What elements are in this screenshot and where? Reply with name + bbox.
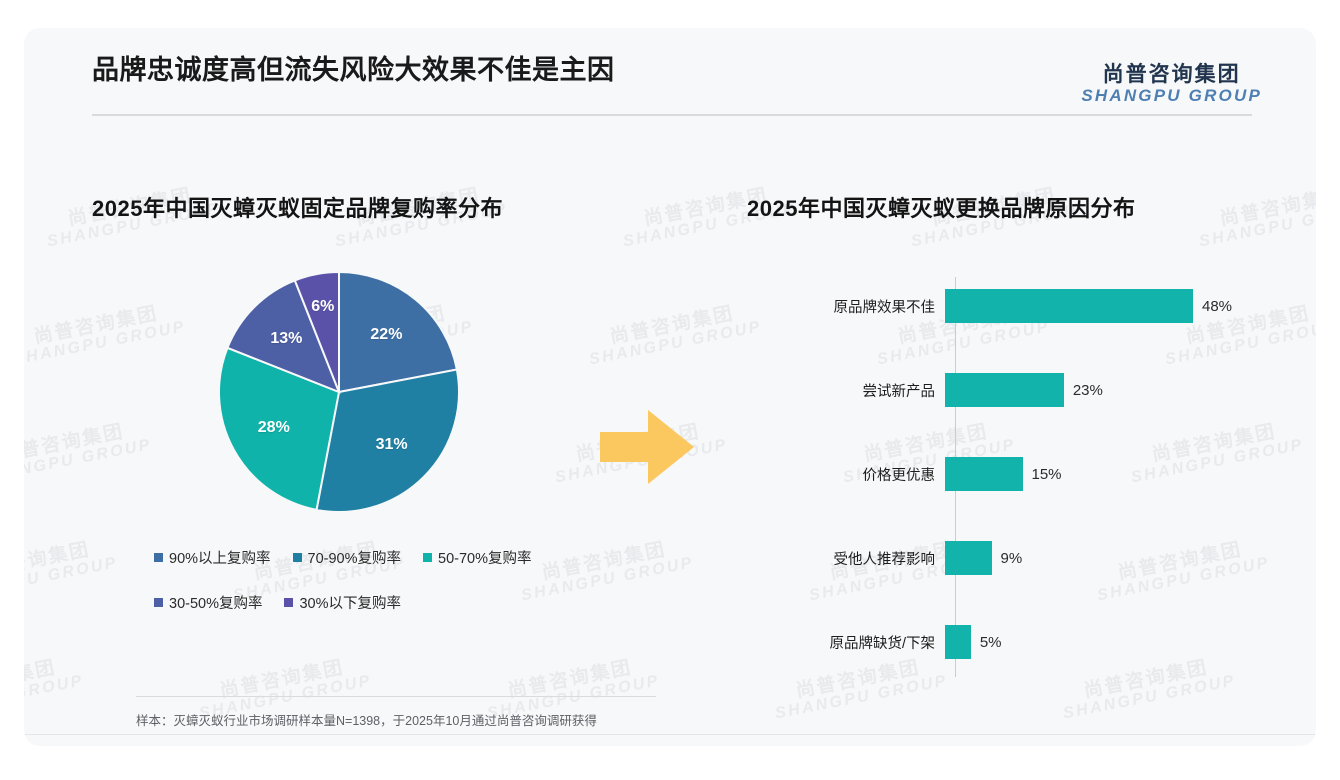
bar-category-label: 原品牌缺货/下架 [747, 632, 945, 653]
legend-swatch-icon [154, 553, 163, 562]
watermark: 尚普咨询集团SHANGPU GROUP [24, 654, 86, 724]
slide-card: 尚普咨询集团SHANGPU GROUP尚普咨询集团SHANGPU GROUP尚普… [24, 28, 1316, 746]
bar-row: 原品牌缺货/下架5% [747, 625, 1287, 659]
slide-header: 品牌忠诚度高但流失风险大效果不佳是主因 尚普咨询集团 SHANGPU GROUP [24, 28, 1316, 118]
pie-legend: 90%以上复购率70-90%复购率50-70%复购率30-50%复购率30%以下… [154, 547, 654, 613]
bar-row: 价格更优惠15% [747, 457, 1287, 491]
footnote-text: 样本：灭蟑灭蚁行业市场调研样本量N=1398，于2025年10月通过尚普咨询调研… [136, 710, 597, 729]
legend-label: 30%以下复购率 [299, 592, 401, 613]
legend-item[interactable]: 30%以下复购率 [284, 592, 401, 613]
footnote-divider [136, 696, 656, 697]
bar-value-label: 9% [1001, 550, 1023, 567]
legend-swatch-icon [284, 598, 293, 607]
pie-slice-label: 6% [311, 298, 334, 316]
bar-fill[interactable] [945, 625, 971, 659]
bar-fill[interactable] [945, 457, 1023, 491]
legend-label: 90%以上复购率 [169, 547, 271, 568]
bar-chart-panel: 2025年中国灭蟑灭蚁更换品牌原因分布 原品牌效果不佳48%尝试新产品23%价格… [747, 191, 1287, 677]
legend-swatch-icon [423, 553, 432, 562]
bar-category-label: 受他人推荐影响 [747, 548, 945, 569]
header-divider [92, 114, 1252, 116]
pie-slice-label: 31% [376, 436, 408, 454]
pie-svg [218, 271, 460, 513]
bar-category-label: 价格更优惠 [747, 464, 945, 485]
pie-slice-label: 22% [370, 326, 402, 344]
bar-value-label: 48% [1202, 298, 1232, 315]
bar-value-label: 23% [1073, 382, 1103, 399]
legend-row: 30-50%复购率30%以下复购率 [154, 592, 654, 613]
slide-canvas: 尚普咨询集团SHANGPU GROUP尚普咨询集团SHANGPU GROUP尚普… [0, 0, 1340, 780]
bar-fill[interactable] [945, 289, 1193, 323]
pie-slice-label: 13% [270, 330, 302, 348]
legend-row: 90%以上复购率70-90%复购率50-70%复购率 [154, 547, 654, 568]
bar-value-label: 5% [980, 634, 1002, 651]
bar-category-label: 原品牌效果不佳 [747, 296, 945, 317]
pie-slice-label: 28% [258, 419, 290, 437]
bar-fill[interactable] [945, 373, 1064, 407]
pie-chart-title: 2025年中国灭蟑灭蚁固定品牌复购率分布 [92, 191, 692, 223]
legend-item[interactable]: 50-70%复购率 [423, 547, 531, 568]
legend-label: 50-70%复购率 [438, 547, 531, 568]
page-title: 品牌忠诚度高但流失风险大效果不佳是主因 [92, 48, 615, 87]
bar-fill[interactable] [945, 541, 992, 575]
legend-swatch-icon [154, 598, 163, 607]
bar-row: 尝试新产品23% [747, 373, 1287, 407]
logo-text-en: SHANGPU GROUP [1081, 87, 1262, 105]
bar-row: 受他人推荐影响9% [747, 541, 1287, 575]
legend-item[interactable]: 90%以上复购率 [154, 547, 271, 568]
company-logo: 尚普咨询集团 SHANGPU GROUP [1081, 64, 1262, 105]
legend-label: 30-50%复购率 [169, 592, 262, 613]
legend-item[interactable]: 70-90%复购率 [293, 547, 401, 568]
bar-chart: 原品牌效果不佳48%尝试新产品23%价格更优惠15%受他人推荐影响9%原品牌缺货… [747, 277, 1287, 677]
legend-label: 70-90%复购率 [308, 547, 401, 568]
bar-chart-title: 2025年中国灭蟑灭蚁更换品牌原因分布 [747, 191, 1287, 223]
pie-chart: 22%31%28%13%6% [218, 271, 460, 513]
bar-row: 原品牌效果不佳48% [747, 289, 1287, 323]
right-arrow-icon [600, 406, 696, 488]
footer-divider [24, 734, 1316, 735]
bar-value-label: 15% [1032, 466, 1062, 483]
logo-text-cn: 尚普咨询集团 [1081, 64, 1262, 87]
legend-swatch-icon [293, 553, 302, 562]
legend-item[interactable]: 30-50%复购率 [154, 592, 262, 613]
bar-category-label: 尝试新产品 [747, 380, 945, 401]
